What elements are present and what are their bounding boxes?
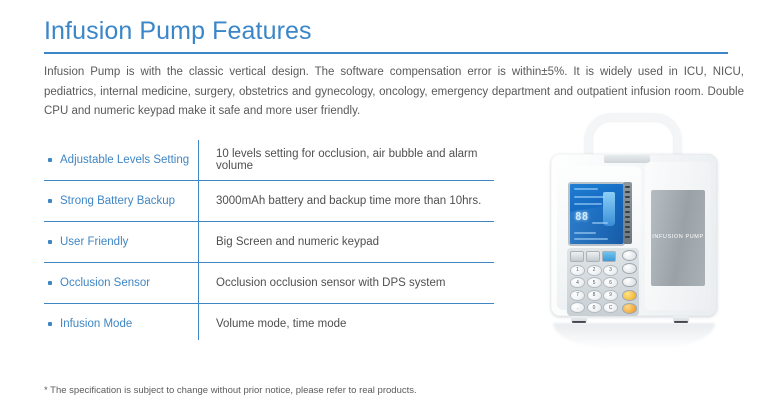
screen-text-line xyxy=(574,203,602,205)
side-key-column xyxy=(621,250,637,314)
bullet-icon xyxy=(48,281,52,285)
pump-door-panel: INFUSION PUMP xyxy=(645,162,711,310)
menu-key[interactable] xyxy=(570,251,584,262)
numeric-keypad: 1 2 3 4 5 6 7 8 9 . 0 C xyxy=(570,265,618,313)
down-arrow-key[interactable] xyxy=(622,263,637,274)
key-8[interactable]: 8 xyxy=(587,290,602,301)
table-row: Adjustable Levels Setting 10 levels sett… xyxy=(44,140,494,181)
pump-foot-left xyxy=(571,316,587,323)
key-2[interactable]: 2 xyxy=(587,265,602,276)
silence-key[interactable] xyxy=(622,277,637,288)
feature-name: User Friendly xyxy=(60,236,128,248)
key-0[interactable]: 0 xyxy=(587,302,602,313)
table-column-divider xyxy=(198,140,199,340)
title-divider xyxy=(44,52,728,54)
key-clear[interactable]: C xyxy=(603,302,618,313)
footnote: * The specification is subject to change… xyxy=(44,385,417,396)
table-row: Strong Battery Backup 3000mAh battery an… xyxy=(44,181,494,222)
feature-name: Occlusion Sensor xyxy=(60,277,150,289)
function-key-row xyxy=(570,251,616,262)
key-6[interactable]: 6 xyxy=(603,277,618,288)
screen-text-line xyxy=(574,188,598,190)
feature-name: Infusion Mode xyxy=(60,318,132,330)
key-9[interactable]: 9 xyxy=(603,290,618,301)
feature-name-cell: Adjustable Levels Setting xyxy=(44,154,198,166)
stop-key[interactable] xyxy=(622,303,637,314)
page-title: Infusion Pump Features xyxy=(44,17,312,46)
pump-lcd-screen: 88 xyxy=(568,182,625,246)
screen-rate-value: 88 xyxy=(575,210,588,223)
pump-reflection xyxy=(553,323,715,349)
feature-name-cell: Infusion Mode xyxy=(44,318,198,330)
iv-bottle-icon xyxy=(603,192,615,226)
key-5[interactable]: 5 xyxy=(587,277,602,288)
pump-top-strip xyxy=(604,155,650,163)
bullet-icon xyxy=(48,240,52,244)
screen-text-line xyxy=(574,196,604,198)
pump-body: 88 xyxy=(551,154,717,316)
screen-text-line xyxy=(592,222,608,224)
feature-detail: 3000mAh battery and backup time more tha… xyxy=(198,195,494,207)
screen-text-line xyxy=(574,232,596,234)
settings-key[interactable] xyxy=(586,251,600,262)
key-1[interactable]: 1 xyxy=(570,265,585,276)
feature-name-cell: Strong Battery Backup xyxy=(44,195,198,207)
feature-name-cell: User Friendly xyxy=(44,236,198,248)
feature-detail: Big Screen and numeric keypad xyxy=(198,236,494,248)
product-feature-page: Infusion Pump Features Infusion Pump is … xyxy=(0,0,777,405)
feature-table: Adjustable Levels Setting 10 levels sett… xyxy=(44,140,494,344)
pressure-led-bar xyxy=(623,182,632,244)
pump-control-panel: 88 xyxy=(557,166,641,310)
bullet-icon xyxy=(48,322,52,326)
screen-text-line xyxy=(574,238,608,240)
table-row: User Friendly Big Screen and numeric key… xyxy=(44,222,494,263)
key-4[interactable]: 4 xyxy=(570,277,585,288)
infusion-pump-image: 88 xyxy=(523,112,758,347)
key-3[interactable]: 3 xyxy=(603,265,618,276)
feature-name: Strong Battery Backup xyxy=(60,195,175,207)
key-decimal[interactable]: . xyxy=(570,302,585,313)
pump-door: INFUSION PUMP xyxy=(651,190,705,286)
table-row: Occlusion Sensor Occlusion occlusion sen… xyxy=(44,263,494,304)
feature-detail: Occlusion occlusion sensor with DPS syst… xyxy=(198,277,494,289)
start-key[interactable] xyxy=(622,290,637,301)
table-row: Infusion Mode Volume mode, time mode xyxy=(44,304,494,344)
pump-keypad: 1 2 3 4 5 6 7 8 9 . 0 C xyxy=(567,248,639,316)
up-arrow-key[interactable] xyxy=(622,250,637,261)
feature-detail: 10 levels setting for occlusion, air bub… xyxy=(198,148,494,172)
feature-name: Adjustable Levels Setting xyxy=(60,154,189,166)
purge-key[interactable] xyxy=(602,251,616,262)
key-7[interactable]: 7 xyxy=(570,290,585,301)
pump-foot-right xyxy=(673,316,689,323)
bullet-icon xyxy=(48,158,52,162)
product-name-label: INFUSION PUMP xyxy=(651,234,705,240)
feature-name-cell: Occlusion Sensor xyxy=(44,277,198,289)
feature-detail: Volume mode, time mode xyxy=(198,318,494,330)
bullet-icon xyxy=(48,199,52,203)
pump-handle xyxy=(585,114,681,158)
